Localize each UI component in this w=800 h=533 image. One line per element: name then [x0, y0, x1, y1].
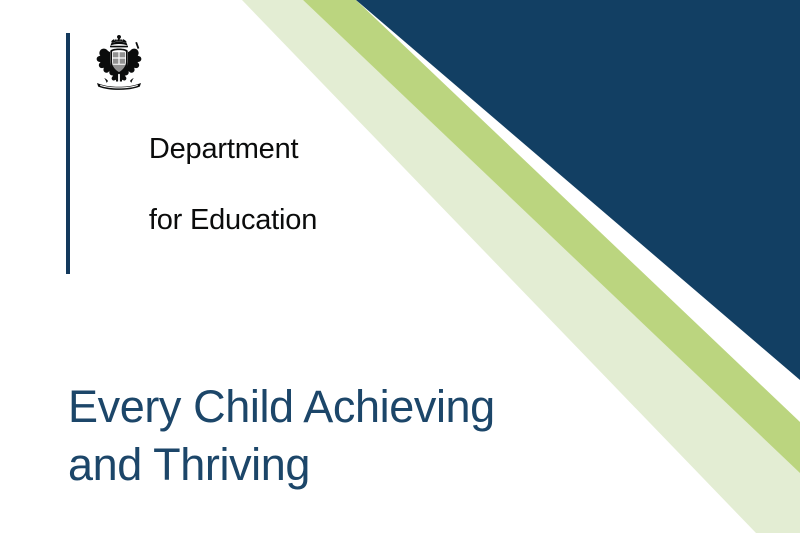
masthead-body: Department for Education: [86, 33, 317, 274]
wordmark-line-2: for Education: [149, 204, 317, 236]
masthead: Department for Education: [66, 33, 317, 274]
wordmark: Department for Education: [86, 97, 317, 274]
wordmark-line-1: Department: [149, 133, 299, 165]
navy-band: [356, 0, 800, 380]
masthead-vertical-rule: [66, 33, 70, 274]
page-title-line-2: and Thriving: [68, 436, 628, 494]
page-title: Every Child Achieving and Thriving: [68, 378, 628, 493]
royal-coat-of-arms-icon: [88, 33, 150, 91]
publication-cover: Department for Education Every Child Ach…: [0, 0, 800, 533]
page-title-line-1: Every Child Achieving: [68, 378, 628, 436]
